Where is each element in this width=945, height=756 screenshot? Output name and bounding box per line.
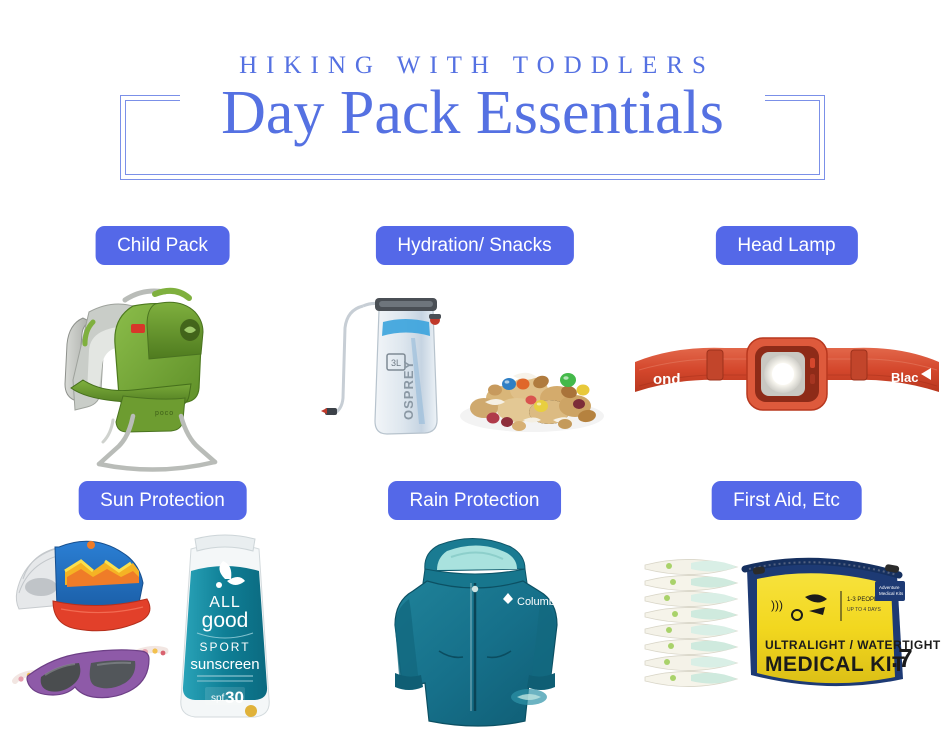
medkit-line2: MEDICAL KIT	[765, 653, 905, 676]
medical-kit-group: ))) 1-3 PEOPLE UP TO 4 DAYS ULTRALIGHT /…	[745, 561, 941, 686]
child-carrier-backpack-photo: poco	[5, 270, 320, 480]
gear-cell-sun-protection: Sun Protection	[5, 473, 320, 741]
sun-protection-svg: ALL good SPORT sunscreen spf 30	[5, 525, 320, 735]
badge-child-pack[interactable]: Child Pack	[95, 226, 230, 265]
badge-rain-protection[interactable]: Rain Protection	[388, 481, 562, 520]
svg-text:poco: poco	[155, 410, 174, 417]
gear-cell-head-lamp: Head Lamp	[629, 218, 944, 486]
badge-hydration-snacks[interactable]: Hydration/ Snacks	[375, 226, 573, 265]
jacket-brand-text: Columbia	[517, 596, 564, 608]
gear-cell-first-aid: First Aid, Etc	[629, 473, 944, 741]
rain-jacket-photo: Columbia	[317, 525, 632, 735]
hydration-reservoir-and-trail-mix-photo: 3L OSPREY	[317, 270, 632, 480]
badge-first-aid[interactable]: First Aid, Etc	[711, 481, 862, 520]
svg-text:))): )))	[771, 598, 783, 612]
gear-cell-child-pack: Child Pack	[5, 218, 320, 486]
medkit-line1: ULTRALIGHT / WATERTIGHT	[765, 638, 941, 652]
gear-cell-rain-protection: Rain Protection	[317, 473, 632, 741]
sunscreen-spf-value: 30	[225, 688, 244, 707]
trucker-cap-group	[16, 541, 150, 631]
gear-cell-hydration-snacks: Hydration/ Snacks	[317, 218, 632, 486]
page-title: Day Pack Essentials	[0, 82, 945, 144]
sunscreen-type-line2: sunscreen	[190, 656, 259, 673]
first-aid-and-diapers-photo: ))) 1-3 PEOPLE UP TO 4 DAYS ULTRALIGHT /…	[629, 525, 944, 735]
child-carrier-svg: poco	[5, 270, 320, 480]
headlamp-brand-left: ond	[653, 371, 681, 388]
headlamp-svg: ond Blac	[629, 270, 944, 480]
kids-sunglasses-group	[15, 648, 165, 697]
badge-sun-protection[interactable]: Sun Protection	[78, 481, 247, 520]
spf-badge: spf 30	[205, 687, 245, 707]
trail-mix-group	[460, 373, 604, 432]
diaper-stack-group	[645, 559, 737, 686]
sunscreen-brand-line2: good	[202, 609, 249, 632]
infographic-page: HIKING WITH TODDLERS Day Pack Essentials…	[0, 0, 945, 756]
svg-text:Medical Kits: Medical Kits	[879, 591, 904, 596]
hydration-and-snacks-svg: 3L OSPREY	[317, 270, 632, 480]
badge-head-lamp[interactable]: Head Lamp	[715, 226, 857, 265]
svg-text:UP TO 4 DAYS: UP TO 4 DAYS	[847, 607, 881, 613]
gear-grid: Child Pack	[0, 210, 945, 756]
headlamp-brand-right: Blac	[891, 370, 918, 385]
hydration-brand-text: OSPREY	[401, 360, 416, 420]
headlamp-photo: ond Blac	[629, 270, 944, 480]
sunscreen-tube-group: ALL good SPORT sunscreen spf 30	[181, 535, 269, 717]
medkit-size: .7	[891, 643, 913, 673]
sun-protection-photo: ALL good SPORT sunscreen spf 30	[5, 525, 320, 735]
first-aid-svg: ))) 1-3 PEOPLE UP TO 4 DAYS ULTRALIGHT /…	[629, 525, 944, 735]
header: HIKING WITH TODDLERS Day Pack Essentials	[0, 0, 945, 200]
svg-text:3L: 3L	[391, 358, 401, 368]
rain-jacket-svg: Columbia	[317, 525, 632, 735]
svg-text:Adventure: Adventure	[879, 585, 900, 590]
kicker-text: HIKING WITH TODDLERS	[0, 52, 945, 80]
sunscreen-spf-prefix: spf	[211, 693, 225, 704]
sunscreen-type-line1: SPORT	[199, 640, 250, 654]
